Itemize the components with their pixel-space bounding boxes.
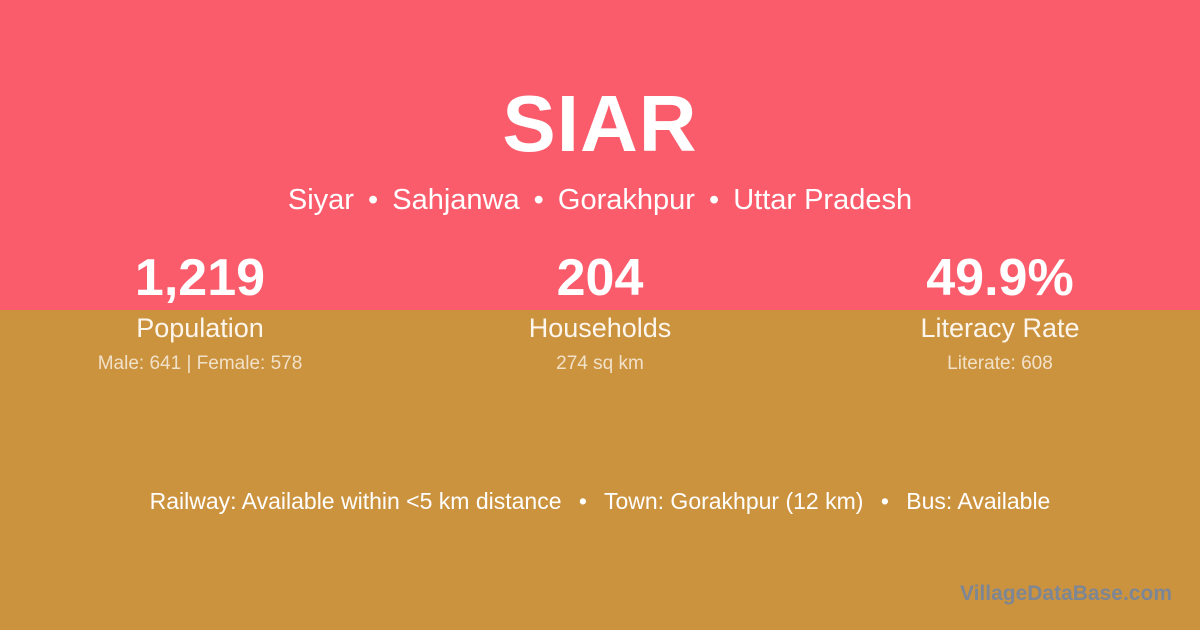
stat-sublabel: Male: 641 | Female: 578	[0, 351, 400, 377]
breadcrumb-separator: •	[528, 184, 550, 216]
stat-label: Literacy Rate	[800, 311, 1200, 345]
facility-separator: •	[870, 488, 900, 514]
village-info-card: SIAR Siyar • Sahjanwa • Gorakhpur • Utta…	[0, 0, 1200, 630]
site-brand-watermark: VillageDataBase.com	[960, 580, 1172, 608]
facility-bus: Bus: Available	[906, 488, 1050, 514]
breadcrumb-separator: •	[703, 184, 725, 216]
stat-value: 49.9%	[800, 246, 1200, 310]
stat-literacy-rate: 49.9% Literacy Rate Literate: 608	[800, 246, 1200, 377]
breadcrumb: Siyar • Sahjanwa • Gorakhpur • Uttar Pra…	[0, 182, 1200, 218]
stat-value: 204	[400, 246, 800, 310]
breadcrumb-item-village: Siyar	[288, 184, 354, 216]
facility-railway: Railway: Available within <5 km distance	[150, 488, 562, 514]
stats-row: 1,219 Population Male: 641 | Female: 578…	[0, 246, 1200, 377]
facilities-line: Railway: Available within <5 km distance…	[0, 485, 1200, 517]
facility-separator: •	[568, 488, 598, 514]
stat-label: Households	[400, 311, 800, 345]
breadcrumb-item-district: Gorakhpur	[558, 184, 695, 216]
breadcrumb-item-block: Sahjanwa	[392, 184, 519, 216]
facility-town: Town: Gorakhpur (12 km)	[604, 488, 863, 514]
breadcrumb-separator: •	[362, 184, 384, 216]
stat-value: 1,219	[0, 246, 400, 310]
stat-label: Population	[0, 311, 400, 345]
stat-population: 1,219 Population Male: 641 | Female: 578	[0, 246, 400, 377]
stat-sublabel: 274 sq km	[400, 351, 800, 377]
breadcrumb-item-state: Uttar Pradesh	[733, 184, 912, 216]
stat-households: 204 Households 274 sq km	[400, 246, 800, 377]
stat-sublabel: Literate: 608	[800, 351, 1200, 377]
page-title: SIAR	[0, 76, 1200, 172]
